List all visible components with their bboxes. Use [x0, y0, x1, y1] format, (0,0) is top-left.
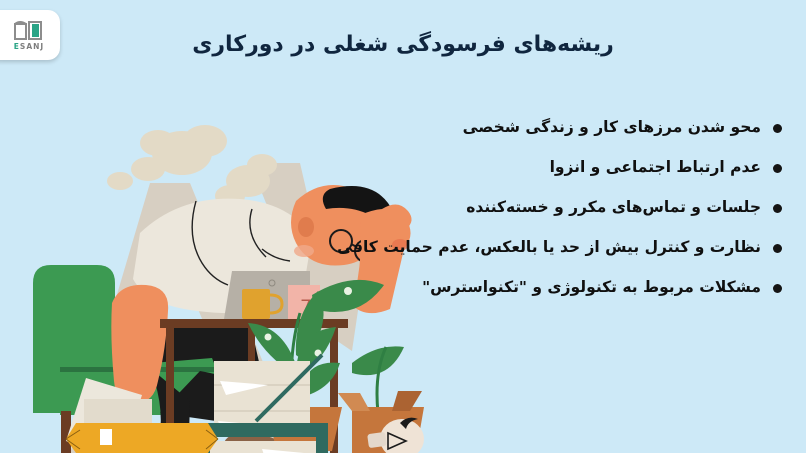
list-item: جلسات و تماس‌های مکرر و خسته‌کننده [337, 188, 782, 228]
list-item-label: جلسات و تماس‌های مکرر و خسته‌کننده [466, 200, 761, 216]
bullet-dot-icon [773, 244, 782, 253]
list-item-label: محو شدن مرزهای کار و زندگی شخصی [463, 120, 761, 136]
bullet-dot-icon [773, 204, 782, 213]
list-item-label: مشکلات مربوط به تکنولوژی و "تکنواسترس" [422, 280, 761, 296]
bullet-dot-icon [773, 164, 782, 173]
list-item-label: نظارت و کنترل بیش از حد یا بالعکس، عدم ح… [337, 240, 761, 256]
list-item: عدم ارتباط اجتماعی و انزوا [337, 148, 782, 188]
list-item-label: عدم ارتباط اجتماعی و انزوا [550, 160, 761, 176]
slide-root: 7 [0, 0, 806, 453]
bullet-list: محو شدن مرزهای کار و زندگی شخصی عدم ارتب… [337, 108, 782, 308]
page-title: ریشه‌های فرسودگی شغلی در دورکاری [0, 32, 806, 57]
briefcase [66, 423, 218, 453]
bullet-dot-icon [773, 284, 782, 293]
list-item: نظارت و کنترل بیش از حد یا بالعکس، عدم ح… [337, 228, 782, 268]
bullet-dot-icon [773, 124, 782, 133]
list-item: مشکلات مربوط به تکنولوژی و "تکنواسترس" [337, 268, 782, 308]
list-item: محو شدن مرزهای کار و زندگی شخصی [337, 108, 782, 148]
